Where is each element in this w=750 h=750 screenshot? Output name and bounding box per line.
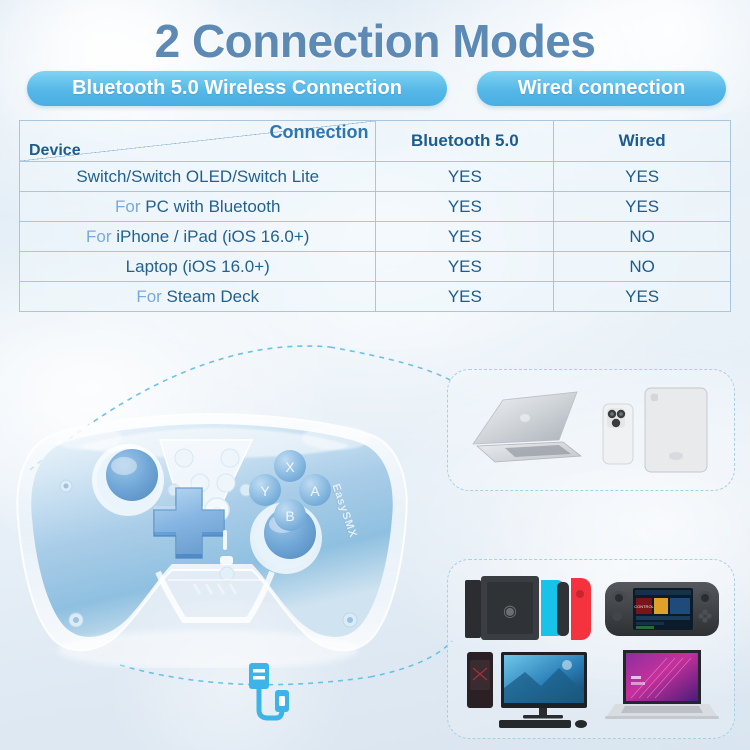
device-cell: Switch/Switch OLED/Switch Lite bbox=[20, 162, 376, 192]
usb-cable-icon bbox=[246, 660, 294, 726]
row-axis-label: Device bbox=[29, 142, 81, 160]
svg-text:X: X bbox=[285, 459, 295, 475]
infographic-page: 2 Connection Modes Bluetooth 5.0 Wireles… bbox=[0, 0, 750, 750]
table-row: For Steam Deck YES YES bbox=[20, 282, 731, 312]
wired-support-cell: NO bbox=[554, 222, 731, 252]
device-name: Switch/Switch OLED/Switch Lite bbox=[76, 167, 319, 186]
steam-deck-icon: CONTROL bbox=[605, 582, 719, 636]
table-corner-cell: Connection Device bbox=[20, 121, 376, 162]
device-cell: For PC with Bluetooth bbox=[20, 192, 376, 222]
for-prefix: For bbox=[86, 227, 112, 246]
wired-support-cell: YES bbox=[554, 192, 731, 222]
device-name: PC with Bluetooth bbox=[145, 197, 280, 216]
wired-support-cell: NO bbox=[554, 252, 731, 282]
nintendo-switch-icon: ◉ bbox=[465, 576, 591, 640]
svg-text:B: B bbox=[285, 508, 294, 524]
compatibility-table: Connection Device Bluetooth 5.0 Wired Sw… bbox=[19, 120, 731, 312]
device-name: iPhone / iPad (iOS 16.0+) bbox=[116, 227, 309, 246]
svg-text:A: A bbox=[310, 483, 320, 499]
bluetooth-support-cell: YES bbox=[376, 252, 554, 282]
table-row: For iPhone / iPad (iOS 16.0+) YES NO bbox=[20, 222, 731, 252]
desktop-pc-icon bbox=[467, 652, 587, 728]
bluetooth-mode-pill-label: Bluetooth 5.0 Wireless Connection bbox=[72, 77, 402, 100]
device-cell: Laptop (iOS 16.0+) bbox=[20, 252, 376, 282]
bluetooth-support-cell: YES bbox=[376, 282, 554, 312]
laptop-icon bbox=[473, 392, 581, 462]
for-prefix: For bbox=[115, 197, 141, 216]
svg-text:CONTROL: CONTROL bbox=[634, 604, 654, 609]
bluetooth-mode-pill[interactable]: Bluetooth 5.0 Wireless Connection bbox=[27, 71, 447, 106]
column-axis-label: Connection bbox=[269, 122, 368, 143]
column-header-wired: Wired bbox=[554, 121, 731, 162]
for-prefix: For bbox=[136, 287, 162, 306]
wired-mode-pill[interactable]: Wired connection bbox=[477, 71, 726, 106]
smartphone-icon bbox=[603, 404, 633, 464]
table-row: For PC with Bluetooth YES YES bbox=[20, 192, 731, 222]
page-title: 2 Connection Modes bbox=[0, 14, 750, 68]
wired-support-cell: YES bbox=[554, 162, 731, 192]
table-row: Switch/Switch OLED/Switch Lite YES YES bbox=[20, 162, 731, 192]
tablet-icon bbox=[645, 388, 707, 472]
wired-support-cell: YES bbox=[554, 282, 731, 312]
device-cell: For Steam Deck bbox=[20, 282, 376, 312]
bluetooth-support-cell: YES bbox=[376, 192, 554, 222]
table-header-row: Connection Device Bluetooth 5.0 Wired bbox=[20, 121, 731, 162]
device-name: Steam Deck bbox=[167, 287, 260, 306]
bluetooth-support-cell: YES bbox=[376, 222, 554, 252]
wired-devices-image: ◉ CONTROL bbox=[455, 568, 727, 730]
wireless-devices-image bbox=[455, 378, 727, 482]
device-name: Laptop (iOS 16.0+) bbox=[126, 257, 270, 276]
device-cell: For iPhone / iPad (iOS 16.0+) bbox=[20, 222, 376, 252]
laptop-icon bbox=[605, 650, 719, 719]
column-header-bluetooth: Bluetooth 5.0 bbox=[376, 121, 554, 162]
svg-text:Y: Y bbox=[260, 483, 270, 499]
wired-mode-pill-label: Wired connection bbox=[518, 77, 686, 100]
bluetooth-support-cell: YES bbox=[376, 162, 554, 192]
svg-text:◉: ◉ bbox=[503, 601, 517, 620]
table-row: Laptop (iOS 16.0+) YES NO bbox=[20, 252, 731, 282]
